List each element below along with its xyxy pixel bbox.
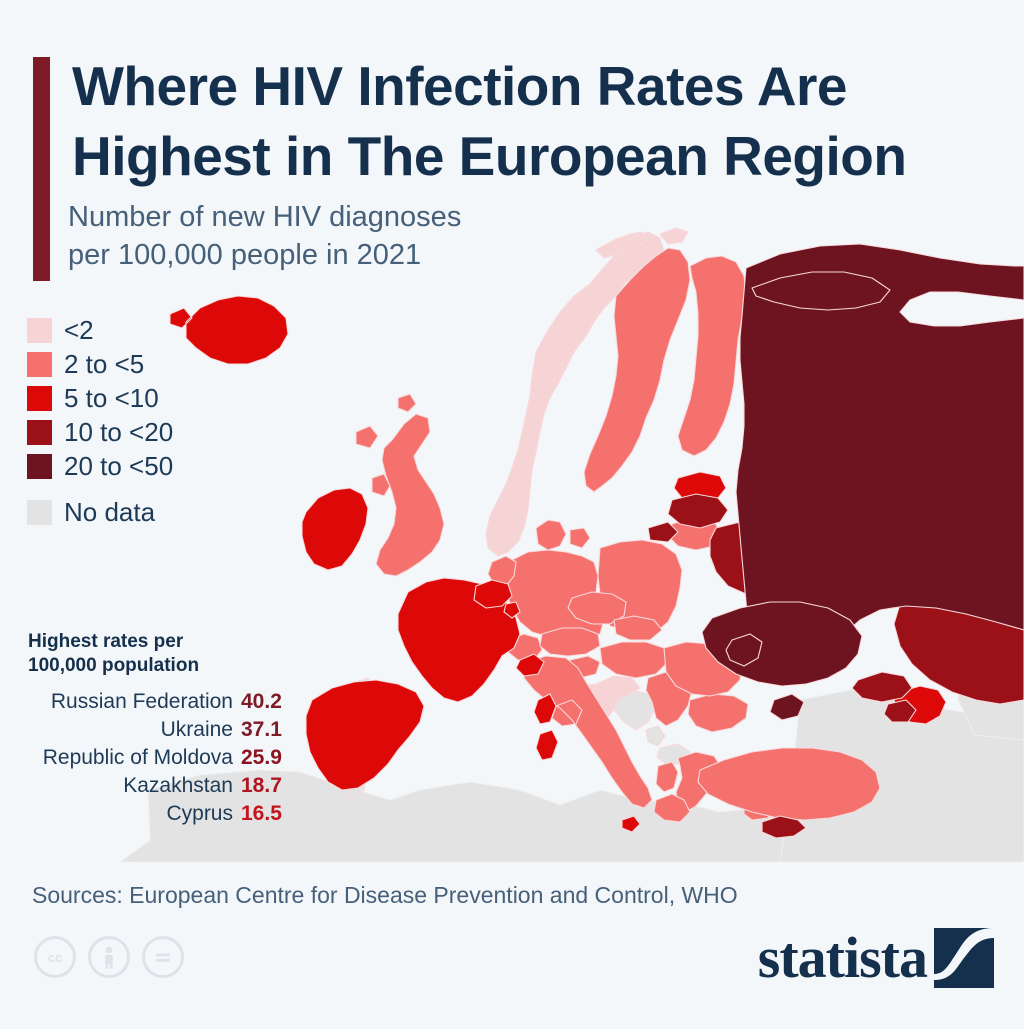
country-spain xyxy=(306,680,424,790)
svg-text:cc: cc xyxy=(48,950,62,965)
choropleth-map xyxy=(0,0,1024,1024)
country-turkiye xyxy=(698,748,880,820)
creative-commons-icons: cc xyxy=(34,936,184,978)
country-denmark xyxy=(536,520,590,550)
country-albania xyxy=(656,762,678,792)
statista-logo[interactable]: statista xyxy=(758,928,994,988)
equals-glyph xyxy=(150,944,176,970)
country-uk xyxy=(356,394,444,576)
country-austria xyxy=(540,628,600,656)
country-georgia xyxy=(852,672,912,702)
country-svalbard xyxy=(660,228,688,244)
cc-by-person-icon[interactable] xyxy=(88,936,130,978)
country-hungary xyxy=(600,642,668,678)
country-montenegro xyxy=(646,726,665,746)
country-bulgaria xyxy=(688,694,748,732)
person-glyph xyxy=(97,944,121,970)
cc-nd-equals-icon[interactable] xyxy=(142,936,184,978)
country-corsica-sardinia xyxy=(534,694,558,760)
country-iceland xyxy=(170,296,288,364)
country-ireland xyxy=(302,488,368,570)
cc-glyph: cc xyxy=(42,944,68,970)
statista-wordmark: statista xyxy=(758,929,927,987)
europe-map-svg xyxy=(0,0,1024,1024)
statista-mark-icon xyxy=(934,928,994,988)
cc-icon[interactable]: cc xyxy=(34,936,76,978)
